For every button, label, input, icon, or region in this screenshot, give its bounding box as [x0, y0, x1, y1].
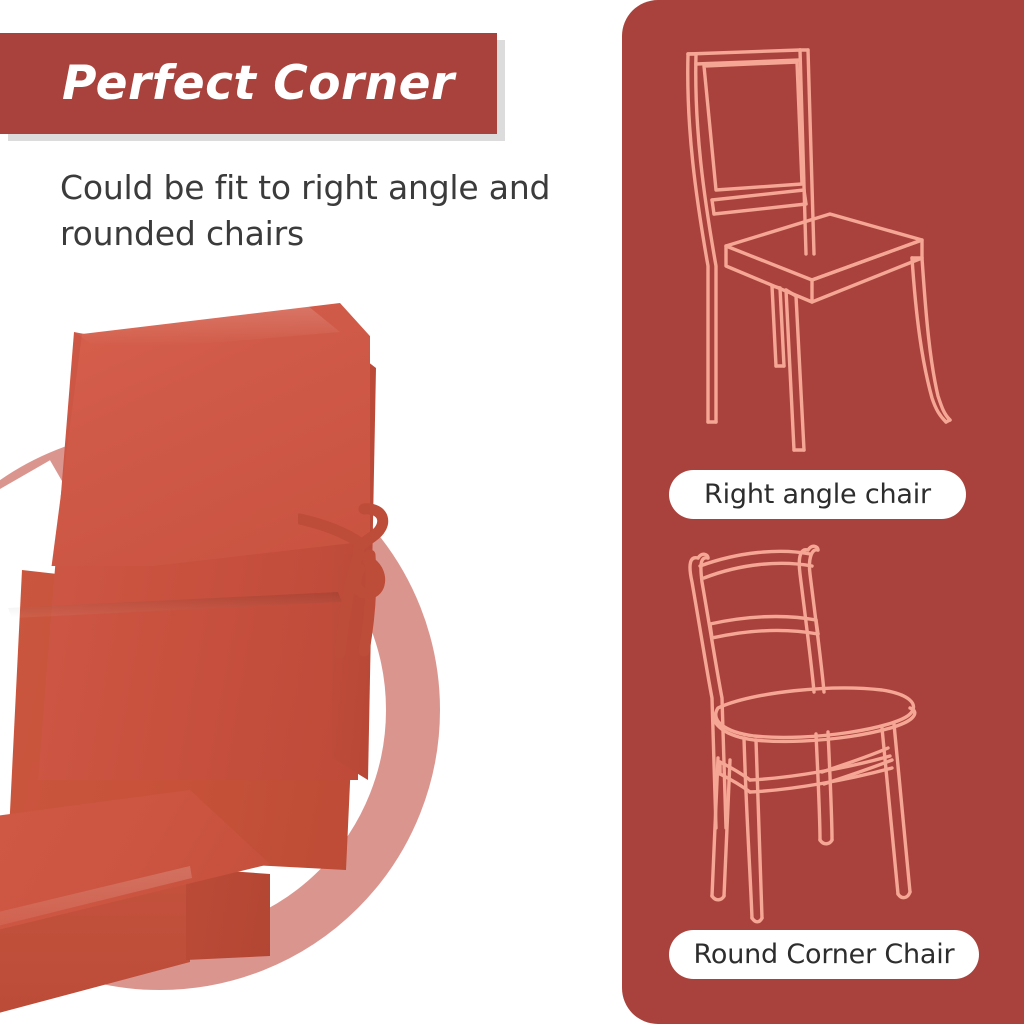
title-banner: Perfect Corner: [0, 33, 497, 134]
label-right-angle-chair: Right angle chair: [669, 470, 966, 519]
chair-cushion-product-image: [0, 270, 480, 970]
label-round-corner-chair-text: Round Corner Chair: [694, 939, 955, 970]
chair-types-panel: Right angle chair: [622, 0, 1024, 1024]
left-content-column: Perfect Corner Could be fit to right ang…: [0, 0, 622, 1024]
tie-strap: [298, 475, 418, 675]
page-title: Perfect Corner: [62, 60, 455, 107]
subtitle-text: Could be fit to right angle and rounded …: [60, 165, 600, 257]
label-round-corner-chair: Round Corner Chair: [669, 930, 979, 979]
label-right-angle-chair-text: Right angle chair: [704, 479, 931, 510]
infographic-page: Perfect Corner Could be fit to right ang…: [0, 0, 1024, 1024]
right-angle-chair-illustration: [634, 18, 1014, 458]
round-corner-chair-illustration: [642, 528, 1012, 928]
